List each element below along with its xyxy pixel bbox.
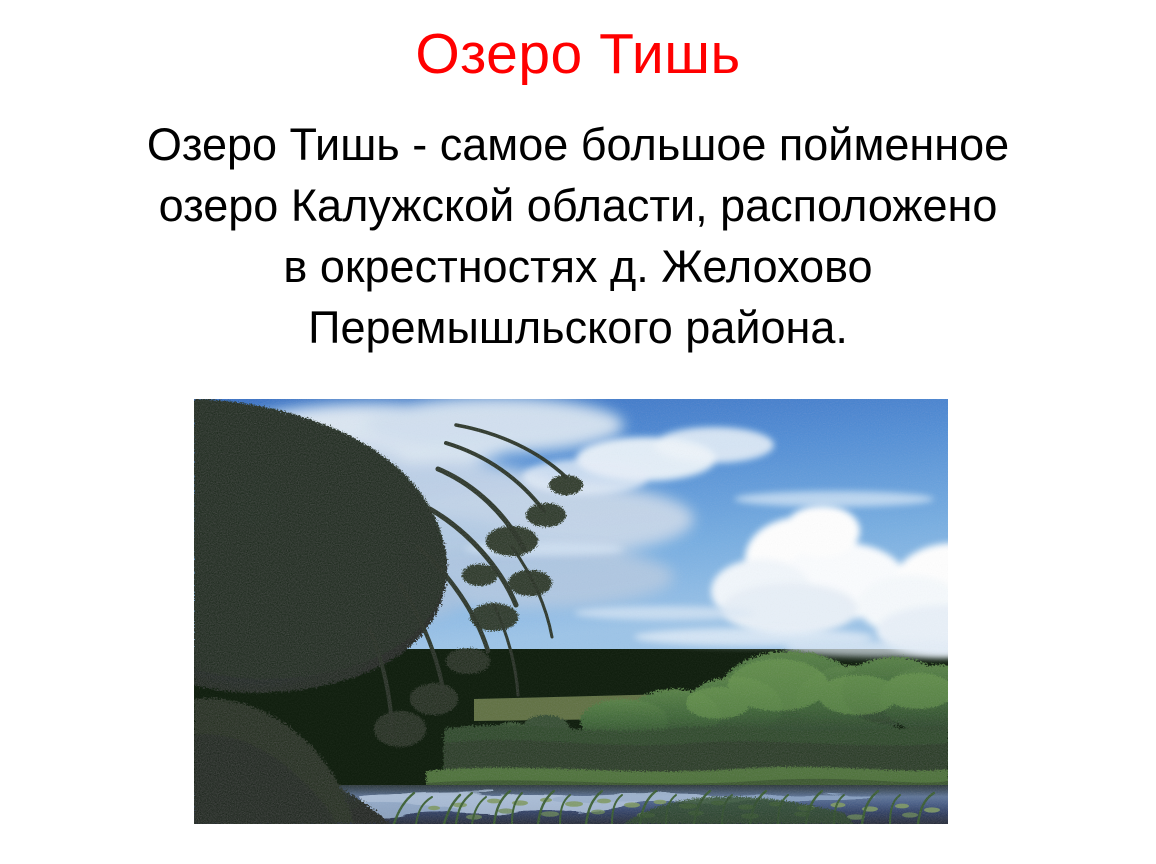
body-line: озеро Калужской области, расположено: [48, 175, 1108, 236]
body-line: Перемышльского района.: [48, 297, 1108, 358]
body-line: в окрестностях д. Желохово: [48, 236, 1108, 297]
slide-body-text: Озеро Тишь - самое большое пойменное озе…: [48, 114, 1108, 358]
lake-photograph-image: [194, 399, 948, 824]
lake-photograph: [194, 399, 948, 824]
page-title: Озеро Тишь: [0, 22, 1156, 86]
body-line: Озеро Тишь - самое большое пойменное: [48, 114, 1108, 175]
presentation-slide: Озеро Тишь Озеро Тишь - самое большое по…: [0, 0, 1156, 864]
